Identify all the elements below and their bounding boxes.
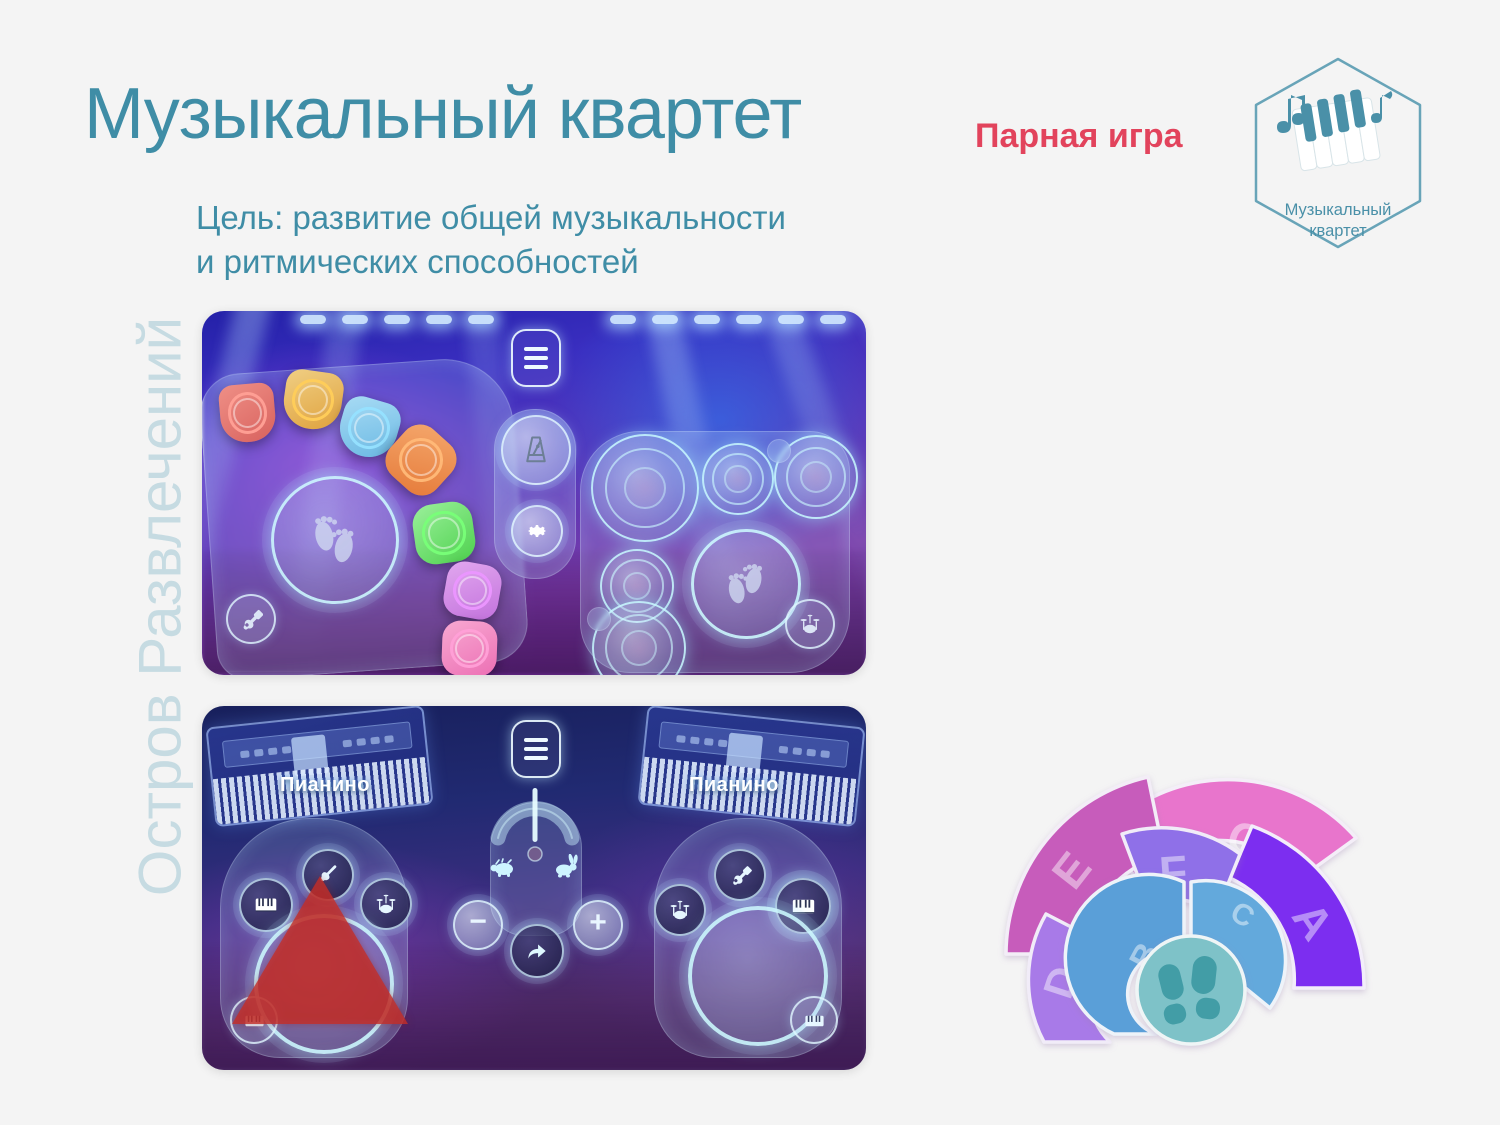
slide-root: Музыкальный квартет Парная игра Цель: ра…	[0, 0, 1500, 1125]
screenshot-panel-drums[interactable]	[202, 311, 866, 675]
tempo-increase-button[interactable]: +	[573, 900, 623, 950]
speaker-medium-1[interactable]	[702, 443, 774, 515]
footprints-icon	[719, 557, 773, 611]
drum-kit-icon	[668, 898, 692, 922]
note-fan-diagram: G A E D F B	[988, 742, 1388, 1060]
foot-pad-left[interactable]	[271, 476, 399, 604]
stage-lights	[202, 315, 866, 329]
rabbit-icon	[552, 854, 580, 878]
side-caption: Остров Развлечений	[126, 207, 195, 1007]
tempo-decrease-button[interactable]: −	[453, 900, 503, 950]
menu-icon-bar	[524, 747, 548, 751]
instrument-label-right: Пианино	[689, 774, 779, 797]
speaker-knob-a	[767, 439, 791, 463]
tempo-increase-label: +	[589, 908, 607, 938]
pad-pink[interactable]	[441, 620, 498, 675]
drum-kit-icon	[798, 612, 822, 636]
footprints-icon	[304, 509, 366, 571]
menu-icon-bar	[524, 365, 548, 369]
drumkit-button[interactable]	[785, 599, 835, 649]
logo-line-2: квартет	[1309, 222, 1367, 240]
instrument-label-left: Пианино	[280, 774, 370, 797]
menu-icon-bar	[524, 356, 548, 360]
fan-center-hub[interactable]	[1137, 936, 1245, 1044]
next-arrow-icon	[524, 938, 550, 964]
speaker-large-1[interactable]	[591, 434, 699, 542]
piano-corner-button-right[interactable]	[790, 996, 838, 1044]
metronome-icon	[521, 435, 551, 465]
turtle-icon	[489, 856, 517, 878]
settings-button[interactable]	[511, 505, 563, 557]
menu-icon-bar	[524, 738, 548, 742]
screenshot-panel-piano[interactable]: Пианино Пианино	[202, 706, 866, 1070]
goal-text: Цель: развитие общей музыкальности и рит…	[196, 196, 786, 284]
guitar-icon	[728, 863, 752, 887]
piano-icon	[803, 1009, 826, 1032]
selection-cone	[232, 876, 408, 1024]
guitar-button[interactable]	[226, 594, 276, 644]
status-badge: Парная игра	[975, 117, 1183, 156]
gear-icon	[525, 519, 549, 543]
menu-icon-bar	[524, 347, 548, 351]
drumkit-button-right[interactable]	[654, 884, 706, 936]
pad-green[interactable]	[410, 499, 478, 567]
logo-line-1: Музыкальный	[1285, 201, 1392, 219]
menu-icon-bar	[524, 756, 548, 760]
guitar-button-right[interactable]	[714, 849, 766, 901]
page-title: Музыкальный квартет	[84, 78, 801, 150]
music-quartet-logo: Музыкальный квартет	[1248, 55, 1428, 251]
next-button[interactable]	[510, 924, 564, 978]
tempo-decrease-label: −	[469, 907, 487, 937]
menu-button[interactable]	[511, 329, 561, 387]
speaker-knob-b	[587, 607, 611, 631]
music-note-small-icon	[1371, 91, 1392, 123]
metronome-button[interactable]	[501, 415, 571, 485]
guitar-icon	[239, 607, 263, 631]
